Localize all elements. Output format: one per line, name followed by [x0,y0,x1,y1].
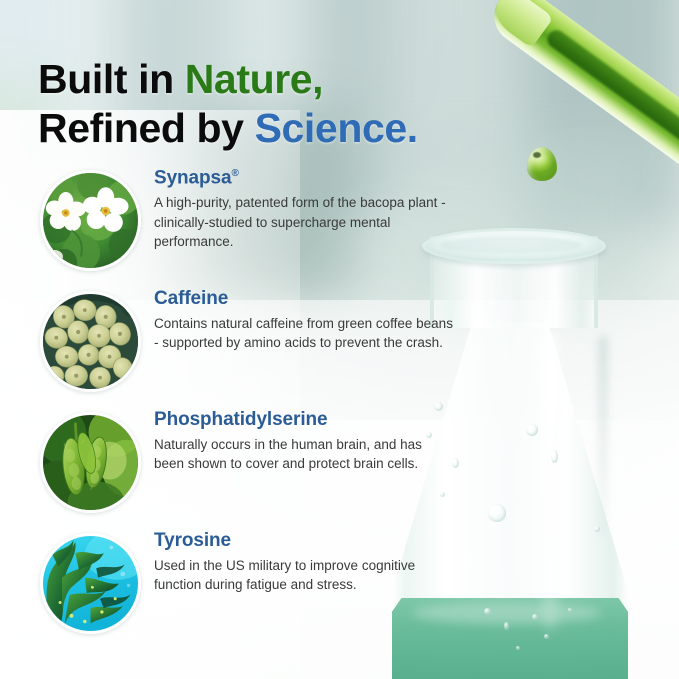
ingredient-item-tyrosine: Tyrosine Used in the US military to impr… [40,527,460,639]
headline-nature: Nature, [185,56,323,102]
ingredient-item-synapsa: Synapsa® A high-purity, patented form of… [40,164,460,276]
ingredient-text-synapsa: Synapsa® A high-purity, patented form of… [154,168,454,251]
ingredient-title-caffeine: Caffeine [154,289,454,310]
ingredient-item-caffeine: Caffeine Contains natural caffeine from … [40,285,460,397]
headline-science: Science. [255,105,418,151]
headline-line-2: Refined by Science. [38,104,598,152]
ingredient-text-tyrosine: Tyrosine Used in the US military to impr… [154,531,454,594]
headline-built-in: Built in [38,56,185,102]
registered-trademark-symbol: ® [231,168,238,179]
headline-line-1: Built in Nature, [38,55,598,103]
ingredient-name: Synapsa [154,167,231,188]
ingredient-text-caffeine: Caffeine Contains natural caffeine from … [154,289,454,352]
ingredient-description-caffeine: Contains natural caffeine from green cof… [154,314,454,353]
ingredient-text-phosphatidylserine: Phosphatidylserine Naturally occurs in t… [154,410,454,473]
green-coffee-beans-photo [40,291,141,392]
page-title: Built in Nature, Refined by Science. [38,55,598,152]
ingredient-infographic: Built in Nature, Refined by Science. [0,0,679,679]
soybean-pods-photo [40,412,141,513]
headline-refined-by: Refined by [38,105,255,151]
ingredient-list: Synapsa® A high-purity, patented form of… [40,164,460,648]
ingredient-item-phosphatidylserine: Phosphatidylserine Naturally occurs in t… [40,406,460,518]
bacopa-flowers-photo [40,170,141,271]
kelp-seaweed-photo [40,533,141,634]
ingredient-title-synapsa: Synapsa® [154,168,454,189]
ingredient-title-tyrosine: Tyrosine [154,531,454,552]
ingredient-description-tyrosine: Used in the US military to improve cogni… [154,556,454,595]
ingredient-title-phosphatidylserine: Phosphatidylserine [154,410,454,431]
ingredient-description-synapsa: A high-purity, patented form of the baco… [154,193,454,251]
ingredient-description-phosphatidylserine: Naturally occurs in the human brain, and… [154,435,454,474]
